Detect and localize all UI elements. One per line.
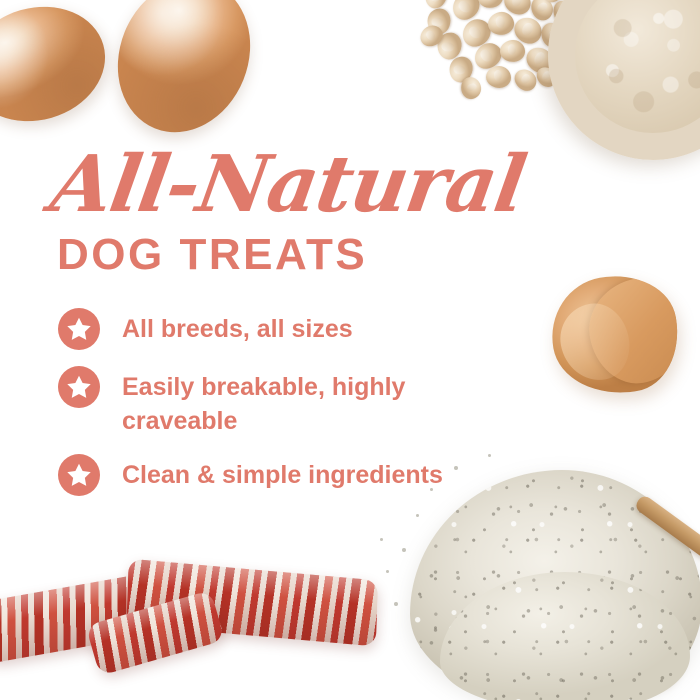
peanut-butter-image <box>543 266 688 404</box>
flour-speck <box>394 602 398 606</box>
star-badge-icon <box>58 366 100 408</box>
flour-speck <box>402 548 406 552</box>
feature-item: All breeds, all sizes <box>58 308 488 350</box>
chickpea <box>486 66 511 88</box>
feature-item: Easily breakable, highly craveable <box>58 366 488 438</box>
flour-speck <box>416 514 419 517</box>
flour-speck <box>380 538 383 541</box>
feature-label: All breeds, all sizes <box>122 308 353 347</box>
feature-item: Clean & simple ingredients <box>58 454 488 496</box>
flour-speck <box>386 570 389 573</box>
chickpea <box>475 0 505 11</box>
product-poster: All-Natural DOG TREATS All breeds, all s… <box>0 0 700 700</box>
headline-script: All-Natural <box>46 148 529 223</box>
feature-list: All breeds, all sizes Easily breakable, … <box>58 308 488 512</box>
flour-speck <box>488 454 491 457</box>
egg-right-image <box>95 0 272 152</box>
feature-label: Clean & simple ingredients <box>122 454 443 493</box>
star-badge-icon <box>58 454 100 496</box>
egg-left-image <box>0 0 119 137</box>
bacon-image <box>0 559 384 691</box>
feature-label: Easily breakable, highly craveable <box>122 366 452 438</box>
headline-subtitle: DOG TREATS <box>57 233 367 277</box>
chickpea <box>499 39 526 63</box>
flour-bowl-image <box>548 0 700 160</box>
star-badge-icon <box>58 308 100 350</box>
flour-bowl-powder <box>575 0 700 133</box>
